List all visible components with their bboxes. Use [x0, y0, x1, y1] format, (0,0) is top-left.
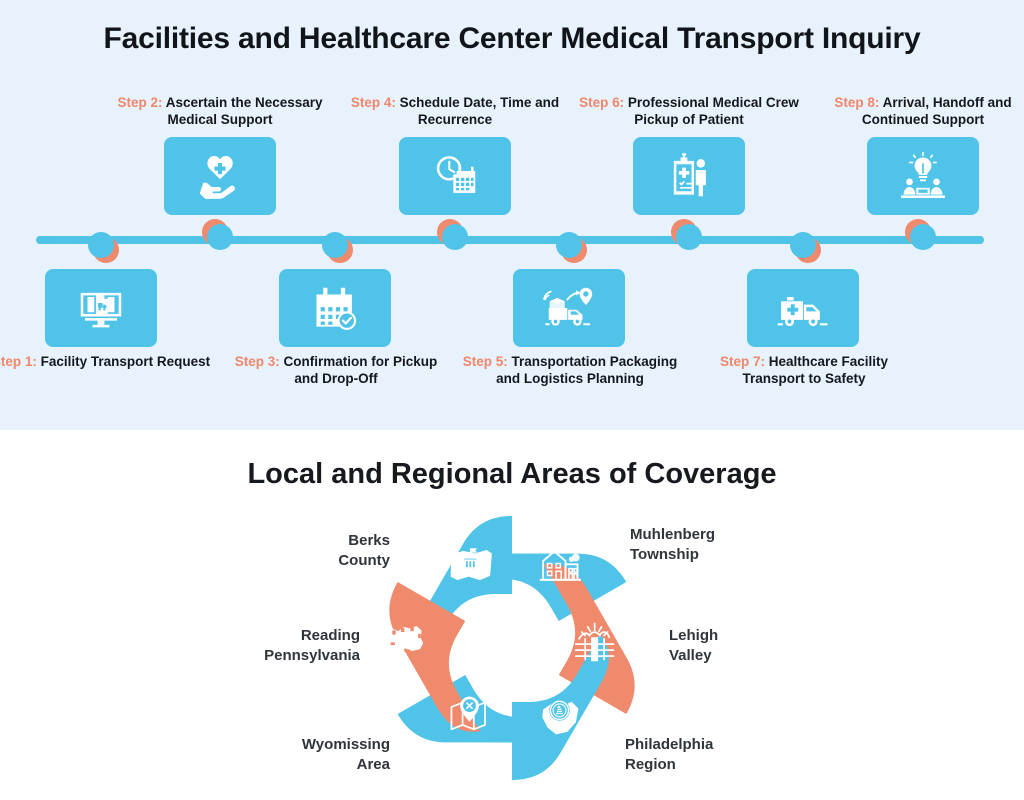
region-line-1: Reading	[195, 626, 360, 646]
step-label-6: Professional Medical Crew Pickup of Pati…	[624, 95, 799, 127]
node-dot	[556, 232, 582, 258]
step-label-8: Arrival, Handoff and Continued Support	[862, 95, 1012, 127]
step-number-3: Step 3:	[235, 354, 280, 369]
region-label-muhlenberg-township: Muhlenberg Township	[630, 525, 810, 564]
region-line-2: County	[245, 551, 390, 571]
timeline-node-2	[207, 224, 233, 250]
step-tile-4[interactable]	[399, 137, 511, 215]
timeline-node-3	[322, 232, 348, 258]
step-label-7: Healthcare Facility Transport to Safety	[742, 354, 888, 386]
region-label-lehigh-valley: Lehigh Valley	[669, 626, 819, 665]
hexagon-ring	[362, 498, 662, 798]
step-number-2: Step 2:	[117, 95, 162, 110]
coverage-panel: Local and Regional Areas of Coverage	[0, 430, 1024, 800]
region-line-2: Valley	[669, 646, 819, 666]
monitor-transport-request-icon	[74, 281, 128, 335]
map-courthouse-flag-icon	[451, 548, 492, 580]
region-line-2: Region	[625, 755, 805, 775]
step-number-4: Step 4:	[351, 95, 396, 110]
region-line-2: Pennsylvania	[195, 646, 360, 666]
region-line-1: Wyomissing	[215, 735, 390, 755]
step-caption-8: Step 8: Arrival, Handoff and Continued S…	[808, 94, 1024, 129]
region-label-berks-county: Berks County	[245, 531, 390, 570]
node-dot	[322, 232, 348, 258]
region-line-2: Area	[215, 755, 390, 775]
node-dot	[790, 232, 816, 258]
step-tile-1[interactable]	[45, 269, 157, 347]
clock-calendar-icon	[428, 149, 482, 203]
ambulance-icon	[776, 281, 830, 335]
step-number-1: Step 1:	[0, 354, 37, 369]
step-tile-7[interactable]	[747, 269, 859, 347]
step-caption-7: Step 7: Healthcare Facility Transport to…	[689, 353, 919, 388]
lightbulb-teamwork-icon	[896, 149, 950, 203]
step-caption-1: Step 1: Facility Transport Request	[0, 353, 216, 370]
timeline-node-4	[442, 224, 468, 250]
hand-heart-medical-icon	[193, 149, 247, 203]
region-line-1: Philadelphia	[625, 735, 805, 755]
step-number-7: Step 7:	[720, 354, 765, 369]
timeline-node-8	[910, 224, 936, 250]
step-tile-8[interactable]	[867, 137, 979, 215]
node-dot	[676, 224, 702, 250]
county-map-outline-icon	[385, 626, 423, 652]
region-line-2: Township	[630, 545, 810, 565]
region-label-philadelphia-region: Philadelphia Region	[625, 735, 805, 774]
step-label-5: Transportation Packaging and Logistics P…	[496, 354, 677, 386]
process-timeline-panel: Facilities and Healthcare Center Medical…	[0, 0, 1024, 430]
step-tile-5[interactable]	[513, 269, 625, 347]
timeline-rail	[36, 236, 984, 244]
page-title: Facilities and Healthcare Center Medical…	[0, 22, 1024, 56]
region-line-1: Berks	[245, 531, 390, 551]
clipboard-medical-person-icon	[662, 149, 716, 203]
step-label-1: Facility Transport Request	[37, 354, 210, 369]
infographic-root: Facilities and Healthcare Center Medical…	[0, 0, 1024, 800]
node-dot	[910, 224, 936, 250]
timeline-node-7	[790, 232, 816, 258]
step-label-4: Schedule Date, Time and Recurrence	[396, 95, 559, 127]
timeline-node-6	[676, 224, 702, 250]
step-number-6: Step 6:	[579, 95, 624, 110]
step-number-5: Step 5:	[463, 354, 508, 369]
step-caption-2: Step 2: Ascertain the Necessary Medical …	[105, 94, 335, 129]
step-tile-6[interactable]	[633, 137, 745, 215]
region-label-wyomissing-area: Wyomissing Area	[215, 735, 390, 774]
node-dot	[442, 224, 468, 250]
coverage-title: Local and Regional Areas of Coverage	[0, 458, 1024, 491]
step-label-2: Ascertain the Necessary Medical Support	[162, 95, 322, 127]
timeline-node-5	[556, 232, 582, 258]
timeline-node-1	[88, 232, 114, 258]
step-caption-6: Step 6: Professional Medical Crew Pickup…	[574, 94, 804, 129]
region-label-reading-pennsylvania: Reading Pennsylvania	[195, 626, 360, 665]
node-dot	[207, 224, 233, 250]
calendar-check-icon	[308, 281, 362, 335]
coverage-hexagon-diagram	[362, 498, 662, 798]
truck-gps-package-icon	[542, 281, 596, 335]
step-tile-2[interactable]	[164, 137, 276, 215]
region-line-1: Muhlenberg	[630, 525, 810, 545]
step-caption-5: Step 5: Transportation Packaging and Log…	[455, 353, 685, 388]
step-label-3: Confirmation for Pickup and Drop-Off	[280, 354, 438, 386]
node-dot	[88, 232, 114, 258]
step-tile-3[interactable]	[279, 269, 391, 347]
region-line-1: Lehigh	[669, 626, 819, 646]
step-caption-4: Step 4: Schedule Date, Time and Recurren…	[340, 94, 570, 129]
step-caption-3: Step 3: Confirmation for Pickup and Drop…	[221, 353, 451, 388]
step-number-8: Step 8:	[834, 95, 879, 110]
